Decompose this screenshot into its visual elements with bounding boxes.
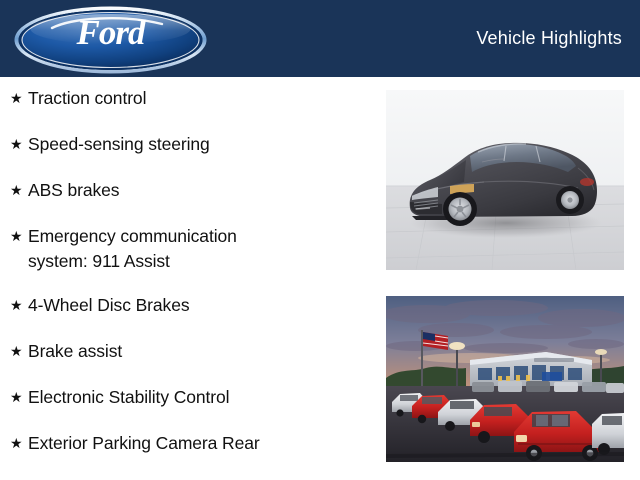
feature-label: Exterior Parking Camera Rear (28, 431, 372, 456)
star-bullet-icon: ★ (8, 339, 28, 364)
feature-label: Emergency communication system: 911 Assi… (28, 224, 372, 274)
list-item: ★ Brake assist (0, 339, 372, 364)
list-item: ★ Exterior Parking Camera Rear (0, 431, 372, 456)
list-item: ★ ABS brakes (0, 178, 372, 203)
list-item: ★ Traction control (0, 86, 372, 111)
vehicle-highlights-slide: Ford Vehicle Highlights ★ Traction contr… (0, 0, 640, 480)
feature-label: Brake assist (28, 339, 372, 364)
vehicle-photo (386, 90, 624, 270)
star-bullet-icon: ★ (8, 293, 28, 318)
feature-label: ABS brakes (28, 178, 372, 203)
list-item: ★ Emergency communication system: 911 As… (0, 224, 372, 274)
feature-label: Traction control (28, 86, 372, 111)
star-bullet-icon: ★ (8, 385, 28, 410)
list-item: ★ 4-Wheel Disc Brakes (0, 293, 372, 318)
feature-label: Electronic Stability Control (28, 385, 372, 410)
star-bullet-icon: ★ (8, 132, 28, 157)
list-item: ★ Speed-sensing steering (0, 132, 372, 157)
dealership-photo (386, 296, 624, 462)
feature-label: Speed-sensing steering (28, 132, 372, 157)
header-bar: Ford Vehicle Highlights (0, 0, 640, 77)
star-bullet-icon: ★ (8, 431, 28, 456)
feature-label: 4-Wheel Disc Brakes (28, 293, 372, 318)
ford-oval-logo: Ford (12, 4, 209, 76)
list-item: ★ Electronic Stability Control (0, 385, 372, 410)
vehicle-features-list: ★ Traction control ★ Speed-sensing steer… (0, 86, 372, 477)
star-bullet-icon: ★ (8, 224, 28, 249)
page-title: Vehicle Highlights (476, 28, 622, 49)
star-bullet-icon: ★ (8, 178, 28, 203)
star-bullet-icon: ★ (8, 86, 28, 111)
